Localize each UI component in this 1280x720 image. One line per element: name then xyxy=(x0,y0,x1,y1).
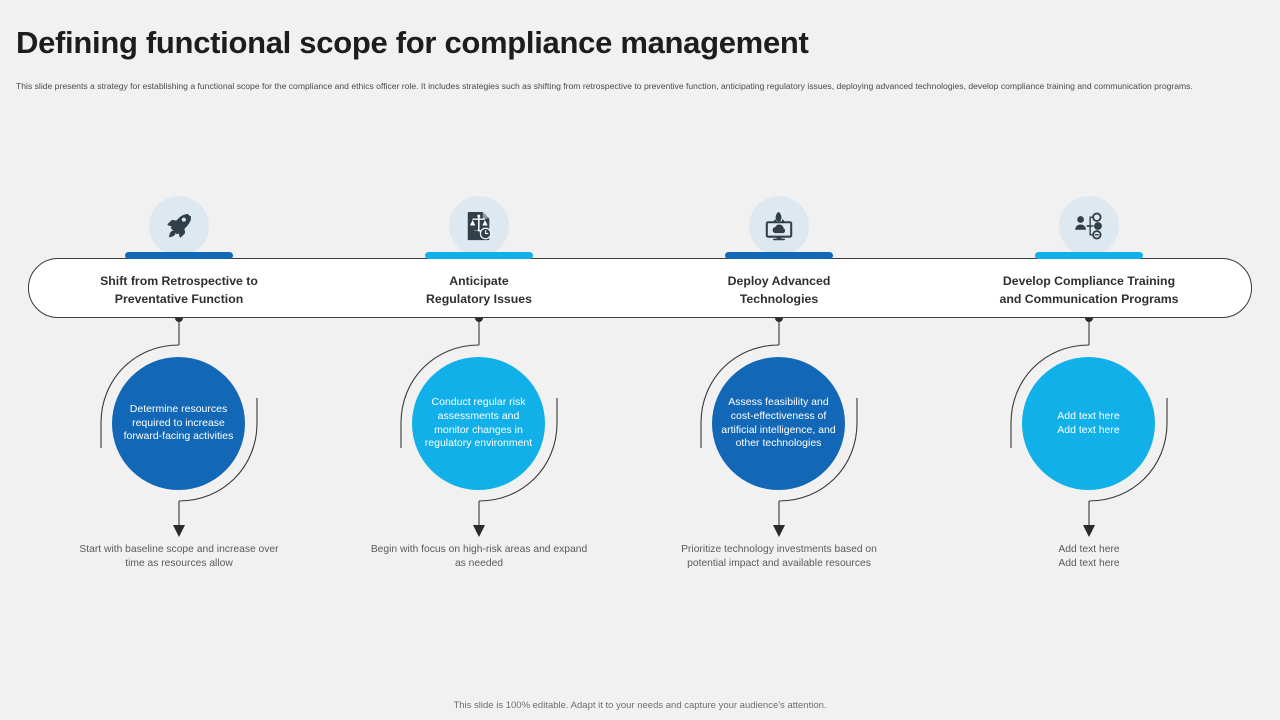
detail-circle-3-text: Assess feasibility and cost-effectivenes… xyxy=(720,396,837,451)
phase-header-3-line1: Deploy Advanced xyxy=(654,272,904,290)
detail-circle-1: Determine resources required to increase… xyxy=(112,357,245,490)
icon-bubble-1 xyxy=(149,196,209,256)
outcome-caption-4-line1: Add text here xyxy=(1058,544,1119,555)
phase-header-2: Anticipate Regulatory Issues xyxy=(354,272,604,309)
detail-circle-1-text: Determine resources required to increase… xyxy=(120,403,237,445)
tab-accent-1 xyxy=(125,252,233,259)
phase-header-3: Deploy Advanced Technologies xyxy=(654,272,904,309)
detail-circle-3: Assess feasibility and cost-effectivenes… xyxy=(712,357,845,490)
icon-bubble-4 xyxy=(1059,196,1119,256)
outcome-caption-4: Add text here Add text here xyxy=(979,543,1199,571)
detail-circle-4: Add text here Add text here xyxy=(1022,357,1155,490)
phase-header-2-line1: Anticipate xyxy=(354,272,604,290)
tab-accent-3 xyxy=(725,252,833,259)
detail-circle-4-line1: Add text here xyxy=(1057,410,1119,422)
phase-header-4: Develop Compliance Training and Communic… xyxy=(964,272,1214,309)
tab-accent-2 xyxy=(425,252,533,259)
phase-header-4-line2: and Communication Programs xyxy=(964,290,1214,308)
phase-header-1-line1: Shift from Retrospective to xyxy=(54,272,304,290)
rocket-check-icon xyxy=(164,211,194,241)
icon-bubble-2 xyxy=(449,196,509,256)
detail-circle-4-text: Add text here Add text here xyxy=(1057,410,1119,438)
phase-header-3-line2: Technologies xyxy=(654,290,904,308)
phase-header-2-line2: Regulatory Issues xyxy=(354,290,604,308)
phase-header-4-line1: Develop Compliance Training xyxy=(964,272,1214,290)
icon-bubble-3 xyxy=(749,196,809,256)
detail-circle-2-text: Conduct regular risk assessments and mon… xyxy=(420,396,537,451)
phase-header-1-line2: Preventative Function xyxy=(54,290,304,308)
detail-circle-2: Conduct regular risk assessments and mon… xyxy=(412,357,545,490)
phase-header-1: Shift from Retrospective to Preventative… xyxy=(54,272,304,309)
outcome-caption-1: Start with baseline scope and increase o… xyxy=(69,543,289,571)
outcome-caption-4-line2: Add text here xyxy=(1058,558,1119,569)
monitor-cloud-rocket-icon xyxy=(764,211,794,241)
legal-document-search-icon xyxy=(465,211,493,241)
slide-footer-note: This slide is 100% editable. Adapt it to… xyxy=(0,700,1280,711)
process-diagram: Shift from Retrospective to Preventative… xyxy=(0,0,1280,720)
outcome-caption-3: Prioritize technology investments based … xyxy=(669,543,889,571)
slide-canvas: Defining functional scope for compliance… xyxy=(0,0,1280,720)
detail-circle-4-line2: Add text here xyxy=(1057,424,1119,436)
user-network-icon xyxy=(1074,212,1104,240)
outcome-caption-2: Begin with focus on high-risk areas and … xyxy=(369,543,589,571)
tab-accent-4 xyxy=(1035,252,1143,259)
